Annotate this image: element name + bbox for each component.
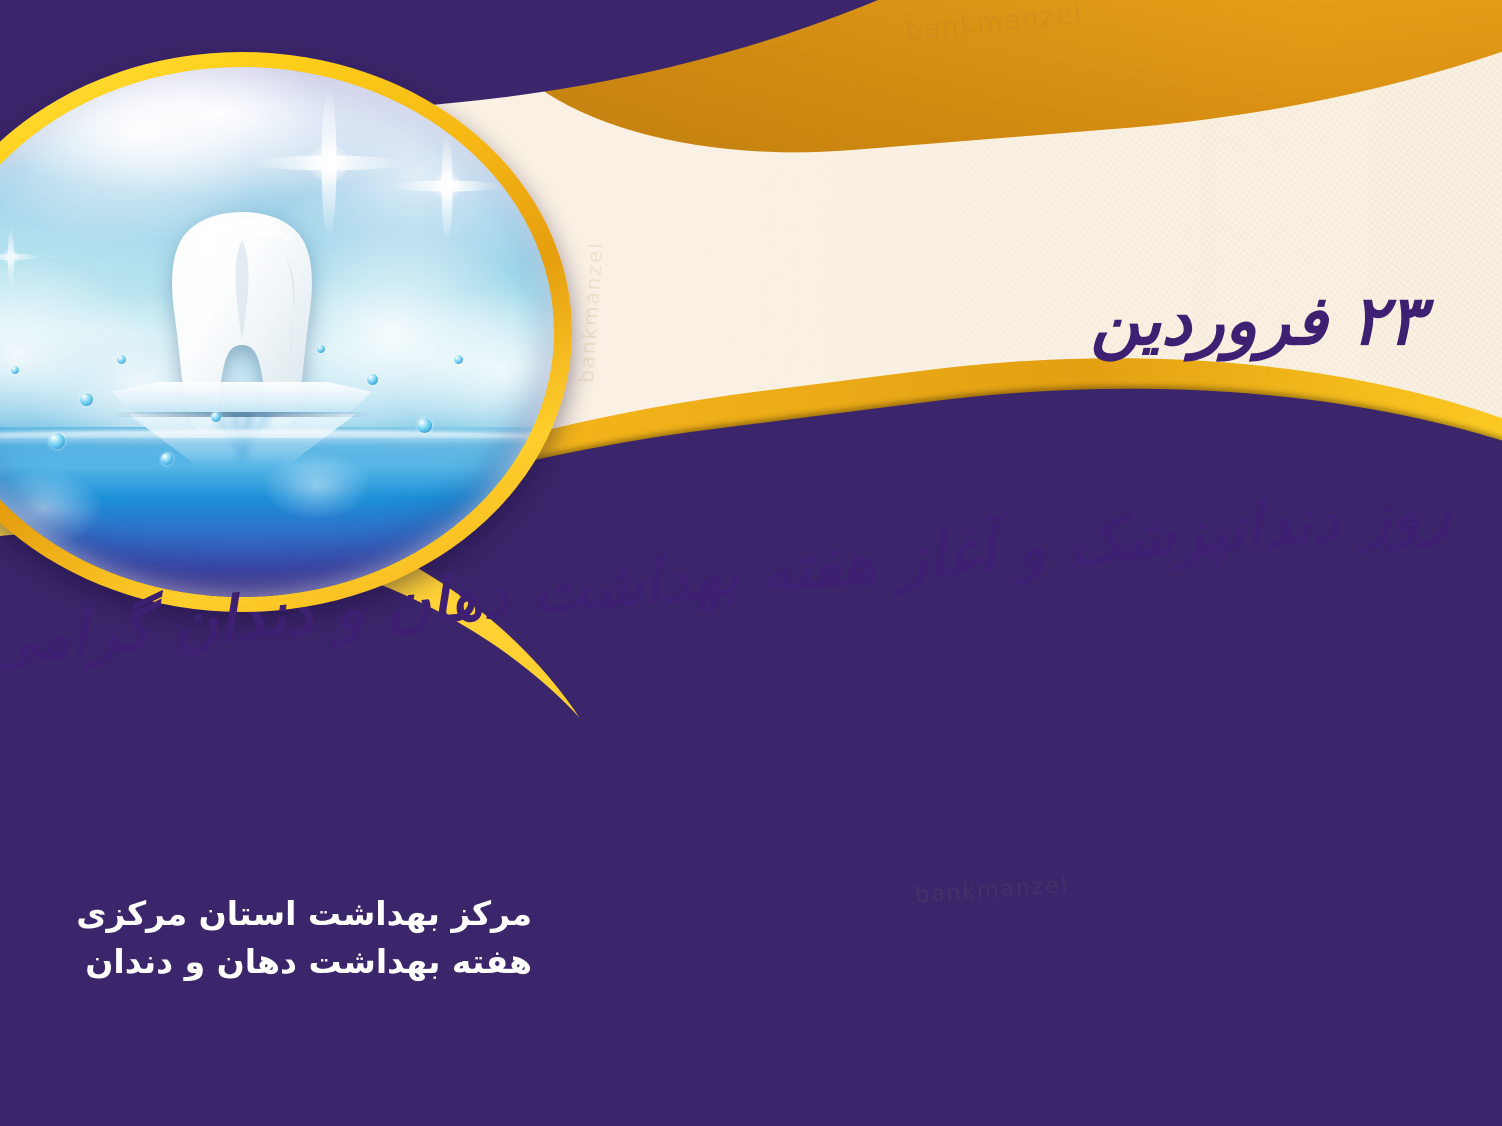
water-droplet-icon — [211, 412, 221, 422]
organization-block: مرکز بهداشت استان مرکزی هفته بهداشت دهان… — [62, 890, 532, 986]
organization-line-2: هفته بهداشت دهان و دندان — [62, 938, 532, 986]
water-droplet-icon — [80, 393, 93, 406]
date-headline: ۲۳ فروردین — [1091, 285, 1424, 360]
water-droplet-icon — [417, 418, 432, 433]
water-droplet-icon — [49, 433, 65, 449]
poster-canvas: bankmanzel bankmanzel bankmanzel — [0, 0, 1502, 1126]
water-droplet-icon — [367, 374, 378, 385]
water-droplet-icon — [454, 355, 463, 364]
organization-line-1: مرکز بهداشت استان مرکزی — [62, 890, 532, 938]
tooth-bubble-graphic — [0, 52, 572, 612]
water-droplet-icon — [161, 453, 173, 465]
water-droplet-icon — [117, 355, 126, 364]
